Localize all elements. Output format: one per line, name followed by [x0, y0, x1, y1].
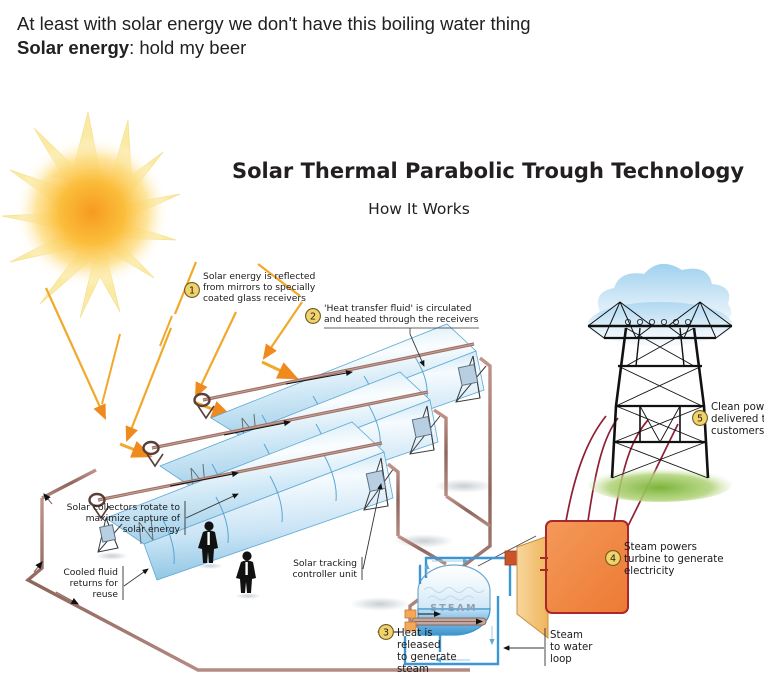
step-text-5-line-2: delivered to — [711, 414, 764, 425]
step-text-4-line-3: electricity — [624, 566, 674, 577]
step-number-5: 5 — [697, 414, 703, 425]
annotation-cooled-fluid-line-1: Cooled fluid — [63, 567, 118, 578]
cloud-shape — [588, 264, 732, 346]
step-number-4: 4 — [610, 554, 616, 565]
step-text-1-line-3: coated glass receivers — [203, 293, 306, 304]
annotation-collector-rotation-line-2: maximize capture of — [86, 513, 181, 524]
solar-thermal-diagram: Solar Thermal Parabolic Trough Technolog… — [0, 66, 764, 673]
step-text-1-line-2: from mirrors to specially — [203, 282, 316, 293]
step-text-4-line-2: turbine to generate — [624, 554, 724, 565]
sun-icon — [2, 112, 180, 318]
step-text-4-line-1: Steam powers — [624, 542, 697, 553]
meme-caption: At least with solar energy we don't have… — [17, 12, 747, 60]
person-figure — [235, 551, 261, 599]
electric-generator — [540, 521, 628, 613]
diagram-title: Solar Thermal Parabolic Trough Technolog… — [232, 159, 744, 183]
steam-turbine — [505, 536, 548, 638]
diagram-subtitle: How It Works — [368, 200, 470, 218]
annotation-tracking-controller-line-1: Solar tracking — [293, 558, 357, 569]
annotation-steam-loop-line-2: to water — [550, 642, 593, 653]
caption-line-2: Solar energy: hold my beer — [17, 36, 747, 60]
step-text-5-line-3: customers — [711, 426, 764, 437]
annotation-cooled-fluid-line-2: returns for — [70, 578, 119, 589]
step-text-2-line-1: 'Heat transfer fluid' is circulated — [324, 303, 471, 314]
annotation-cooled-fluid: Cooled fluid returns for reuse — [63, 566, 148, 600]
annotation-steam-to-water-loop: Steam to water loop — [504, 628, 593, 666]
annotation-cooled-fluid-line-3: reuse — [93, 589, 119, 600]
step-number-2: 2 — [310, 312, 316, 323]
step-text-2-line-2: and heated through the receivers — [324, 314, 479, 325]
annotation-collector-rotation-line-3: solar energy — [123, 524, 181, 535]
annotation-steam-loop-line-3: loop — [550, 654, 572, 665]
annotation-collector-rotation-line-1: Solar collectors rotate to — [67, 502, 181, 513]
steam-vessel-label: STEAM — [430, 603, 478, 614]
step-callout-1: 1 Solar energy is reflected from mirrors… — [185, 271, 316, 304]
annotation-steam-loop-line-1: Steam — [550, 630, 583, 641]
caption-line-1: At least with solar energy we don't have… — [17, 12, 747, 36]
caption-line-2-bold: Solar energy — [17, 37, 129, 58]
solar-ray-secondary — [102, 316, 172, 404]
step-text-3-line-3: to generate — [397, 652, 457, 663]
step-text-3-line-1: Heat is — [397, 628, 433, 639]
grass-mound — [588, 466, 732, 502]
step-number-3: 3 — [383, 628, 389, 639]
caption-line-2-rest: : hold my beer — [129, 37, 246, 58]
step-callout-4: 4 Steam powers turbine to generate elect… — [606, 542, 724, 577]
step-text-5-line-1: Clean power — [711, 402, 764, 413]
annotation-tracking-controller-line-2: controller unit — [292, 569, 357, 580]
step-number-1: 1 — [189, 286, 195, 297]
step-text-3-line-4: steam — [397, 664, 429, 673]
step-text-1-line-1: Solar energy is reflected — [203, 271, 315, 282]
step-text-3-line-2: released — [397, 640, 441, 651]
